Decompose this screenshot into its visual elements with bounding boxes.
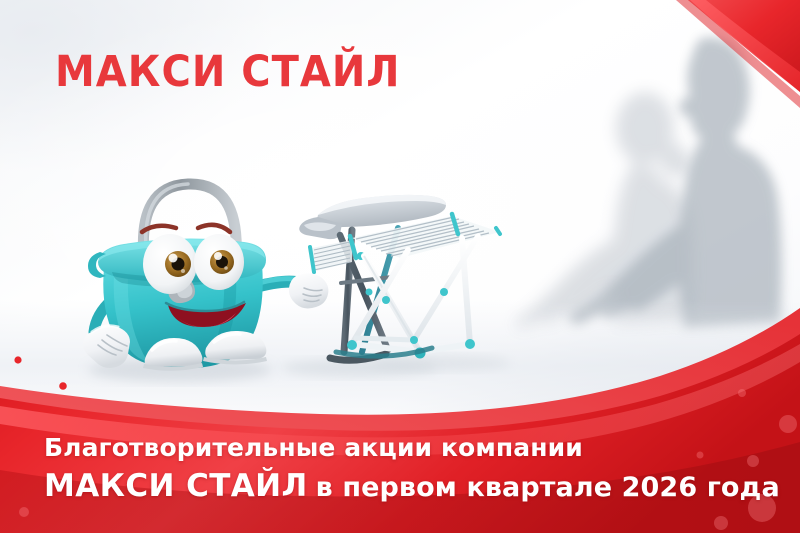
white-area-red-dots: [14, 356, 66, 389]
banner-text-block: Благотворительные акции компании МАКСИ С…: [44, 434, 780, 505]
banner-period-text: в первом квартале 2026 года: [316, 472, 780, 503]
company-logo: МАКСИ СТАЙЛ: [55, 48, 401, 97]
banner-brand-name: МАКСИ СТАЙЛ: [44, 468, 308, 504]
promo-poster: МАКСИ СТАЙЛ Благотворительные акции комп…: [0, 0, 800, 533]
banner-subline: МАКСИ СТАЙЛв первом квартале 2026 года: [44, 469, 780, 505]
banner-headline: Благотворительные акции компании: [44, 434, 780, 463]
